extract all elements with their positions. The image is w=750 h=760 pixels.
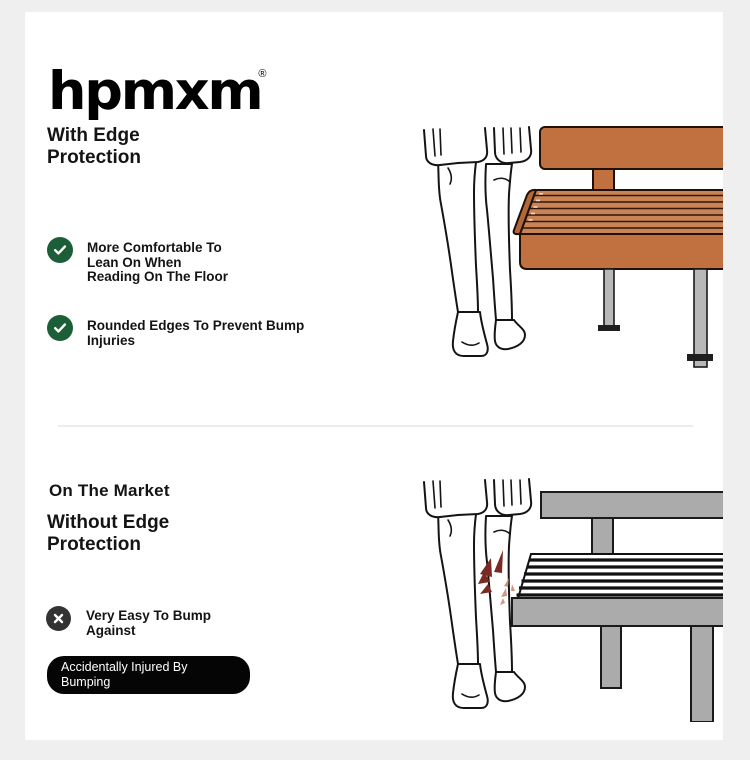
x-circle-icon <box>46 606 71 631</box>
bullet-label: Very Easy To Bump Against <box>86 608 211 638</box>
without-edge-protection-heading: Without Edge Protection <box>47 512 169 556</box>
rounded-edge-bench-svg <box>408 122 723 372</box>
with-edge-protection-heading: With Edge Protection <box>47 125 141 169</box>
on-the-market-label: On The Market <box>49 480 170 502</box>
page-root: hpmxm ® With Edge Protection More Comfor… <box>0 0 750 760</box>
comparison-card: hpmxm ® With Edge Protection More Comfor… <box>25 12 723 740</box>
brand-logo: hpmxm ® <box>48 65 266 118</box>
illustration-sharp-edge-bench <box>408 474 723 722</box>
bullet-rounded-edges: Rounded Edges To Prevent Bump Injuries <box>47 315 304 348</box>
status-badge-injured: Accidentally Injured By Bumping <box>47 656 250 694</box>
check-circle-icon <box>47 237 73 263</box>
section-divider <box>58 425 693 427</box>
check-circle-icon <box>47 315 73 341</box>
bullet-label: More Comfortable To Lean On When Reading… <box>87 240 228 285</box>
bullet-label: Rounded Edges To Prevent Bump Injuries <box>87 318 304 348</box>
brand-logo-text: hpmxm <box>48 65 261 118</box>
illustration-rounded-edge-bench <box>408 122 723 372</box>
bullet-more-comfortable: More Comfortable To Lean On When Reading… <box>47 237 228 285</box>
sharp-edge-bench-svg <box>408 474 723 722</box>
bullet-easy-to-bump: Very Easy To Bump Against <box>46 606 211 638</box>
